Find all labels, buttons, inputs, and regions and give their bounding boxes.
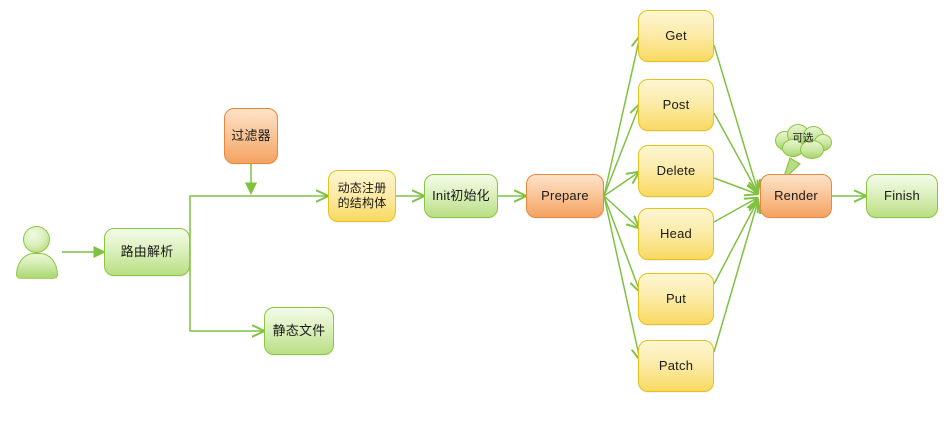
node-method-delete-label: Delete [657,163,696,179]
node-dynamic-struct-line2: 的结构体 [338,196,387,211]
edge-prepare-get [604,36,640,196]
node-prepare[interactable]: Prepare [526,174,604,218]
node-method-put[interactable]: Put [638,273,714,325]
node-method-patch[interactable]: Patch [638,340,714,392]
edge-patch-render [714,201,758,352]
node-filter[interactable]: 过滤器 [224,108,278,164]
edge-prepare-head [604,196,639,228]
edge-delete-render [714,178,757,194]
edge-put-render [714,200,758,284]
node-static-file[interactable]: 静态文件 [264,307,334,355]
user-actor [12,226,62,278]
optional-callout: 可选 [772,122,834,162]
node-init-label: Init初始化 [432,188,490,204]
node-method-patch-label: Patch [659,358,693,374]
optional-callout-label: 可选 [772,130,834,145]
edge-post-render [714,113,758,193]
node-prepare-label: Prepare [541,188,589,204]
edge-prepare-post [604,104,640,196]
actor-body [16,253,58,279]
node-static-file-label: 静态文件 [273,323,326,339]
node-method-get-label: Get [665,28,687,44]
edge-layer [0,0,951,448]
node-finish[interactable]: Finish [866,174,938,218]
node-method-post[interactable]: Post [638,79,714,131]
node-init[interactable]: Init初始化 [424,174,498,218]
node-method-post-label: Post [663,97,690,113]
edge-prepare-put [604,196,640,292]
node-method-head[interactable]: Head [638,208,714,260]
node-method-head-label: Head [660,226,692,242]
edge-get-render [714,45,758,192]
actor-head [23,226,50,253]
node-dynamic-struct-label: 动态注册 的结构体 [338,181,387,211]
edge-route-dynamic [190,196,328,252]
node-route-parse[interactable]: 路由解析 [104,228,190,276]
node-route-parse-label: 路由解析 [121,244,174,260]
node-render[interactable]: Render [760,174,832,218]
edge-head-render [714,198,757,222]
node-dynamic-struct-line1: 动态注册 [338,181,387,196]
node-filter-label: 过滤器 [231,128,271,144]
node-method-put-label: Put [666,291,686,307]
node-finish-label: Finish [884,188,920,204]
edge-route-static [190,252,264,331]
flowchart-canvas: 路由解析 过滤器 静态文件 动态注册 的结构体 Init初始化 Prepare … [0,0,951,448]
node-render-label: Render [774,188,818,204]
edge-prepare-patch [604,196,640,360]
node-method-get[interactable]: Get [638,10,714,62]
node-dynamic-struct[interactable]: 动态注册 的结构体 [328,170,396,222]
edge-prepare-delete [604,172,639,196]
node-method-delete[interactable]: Delete [638,145,714,197]
